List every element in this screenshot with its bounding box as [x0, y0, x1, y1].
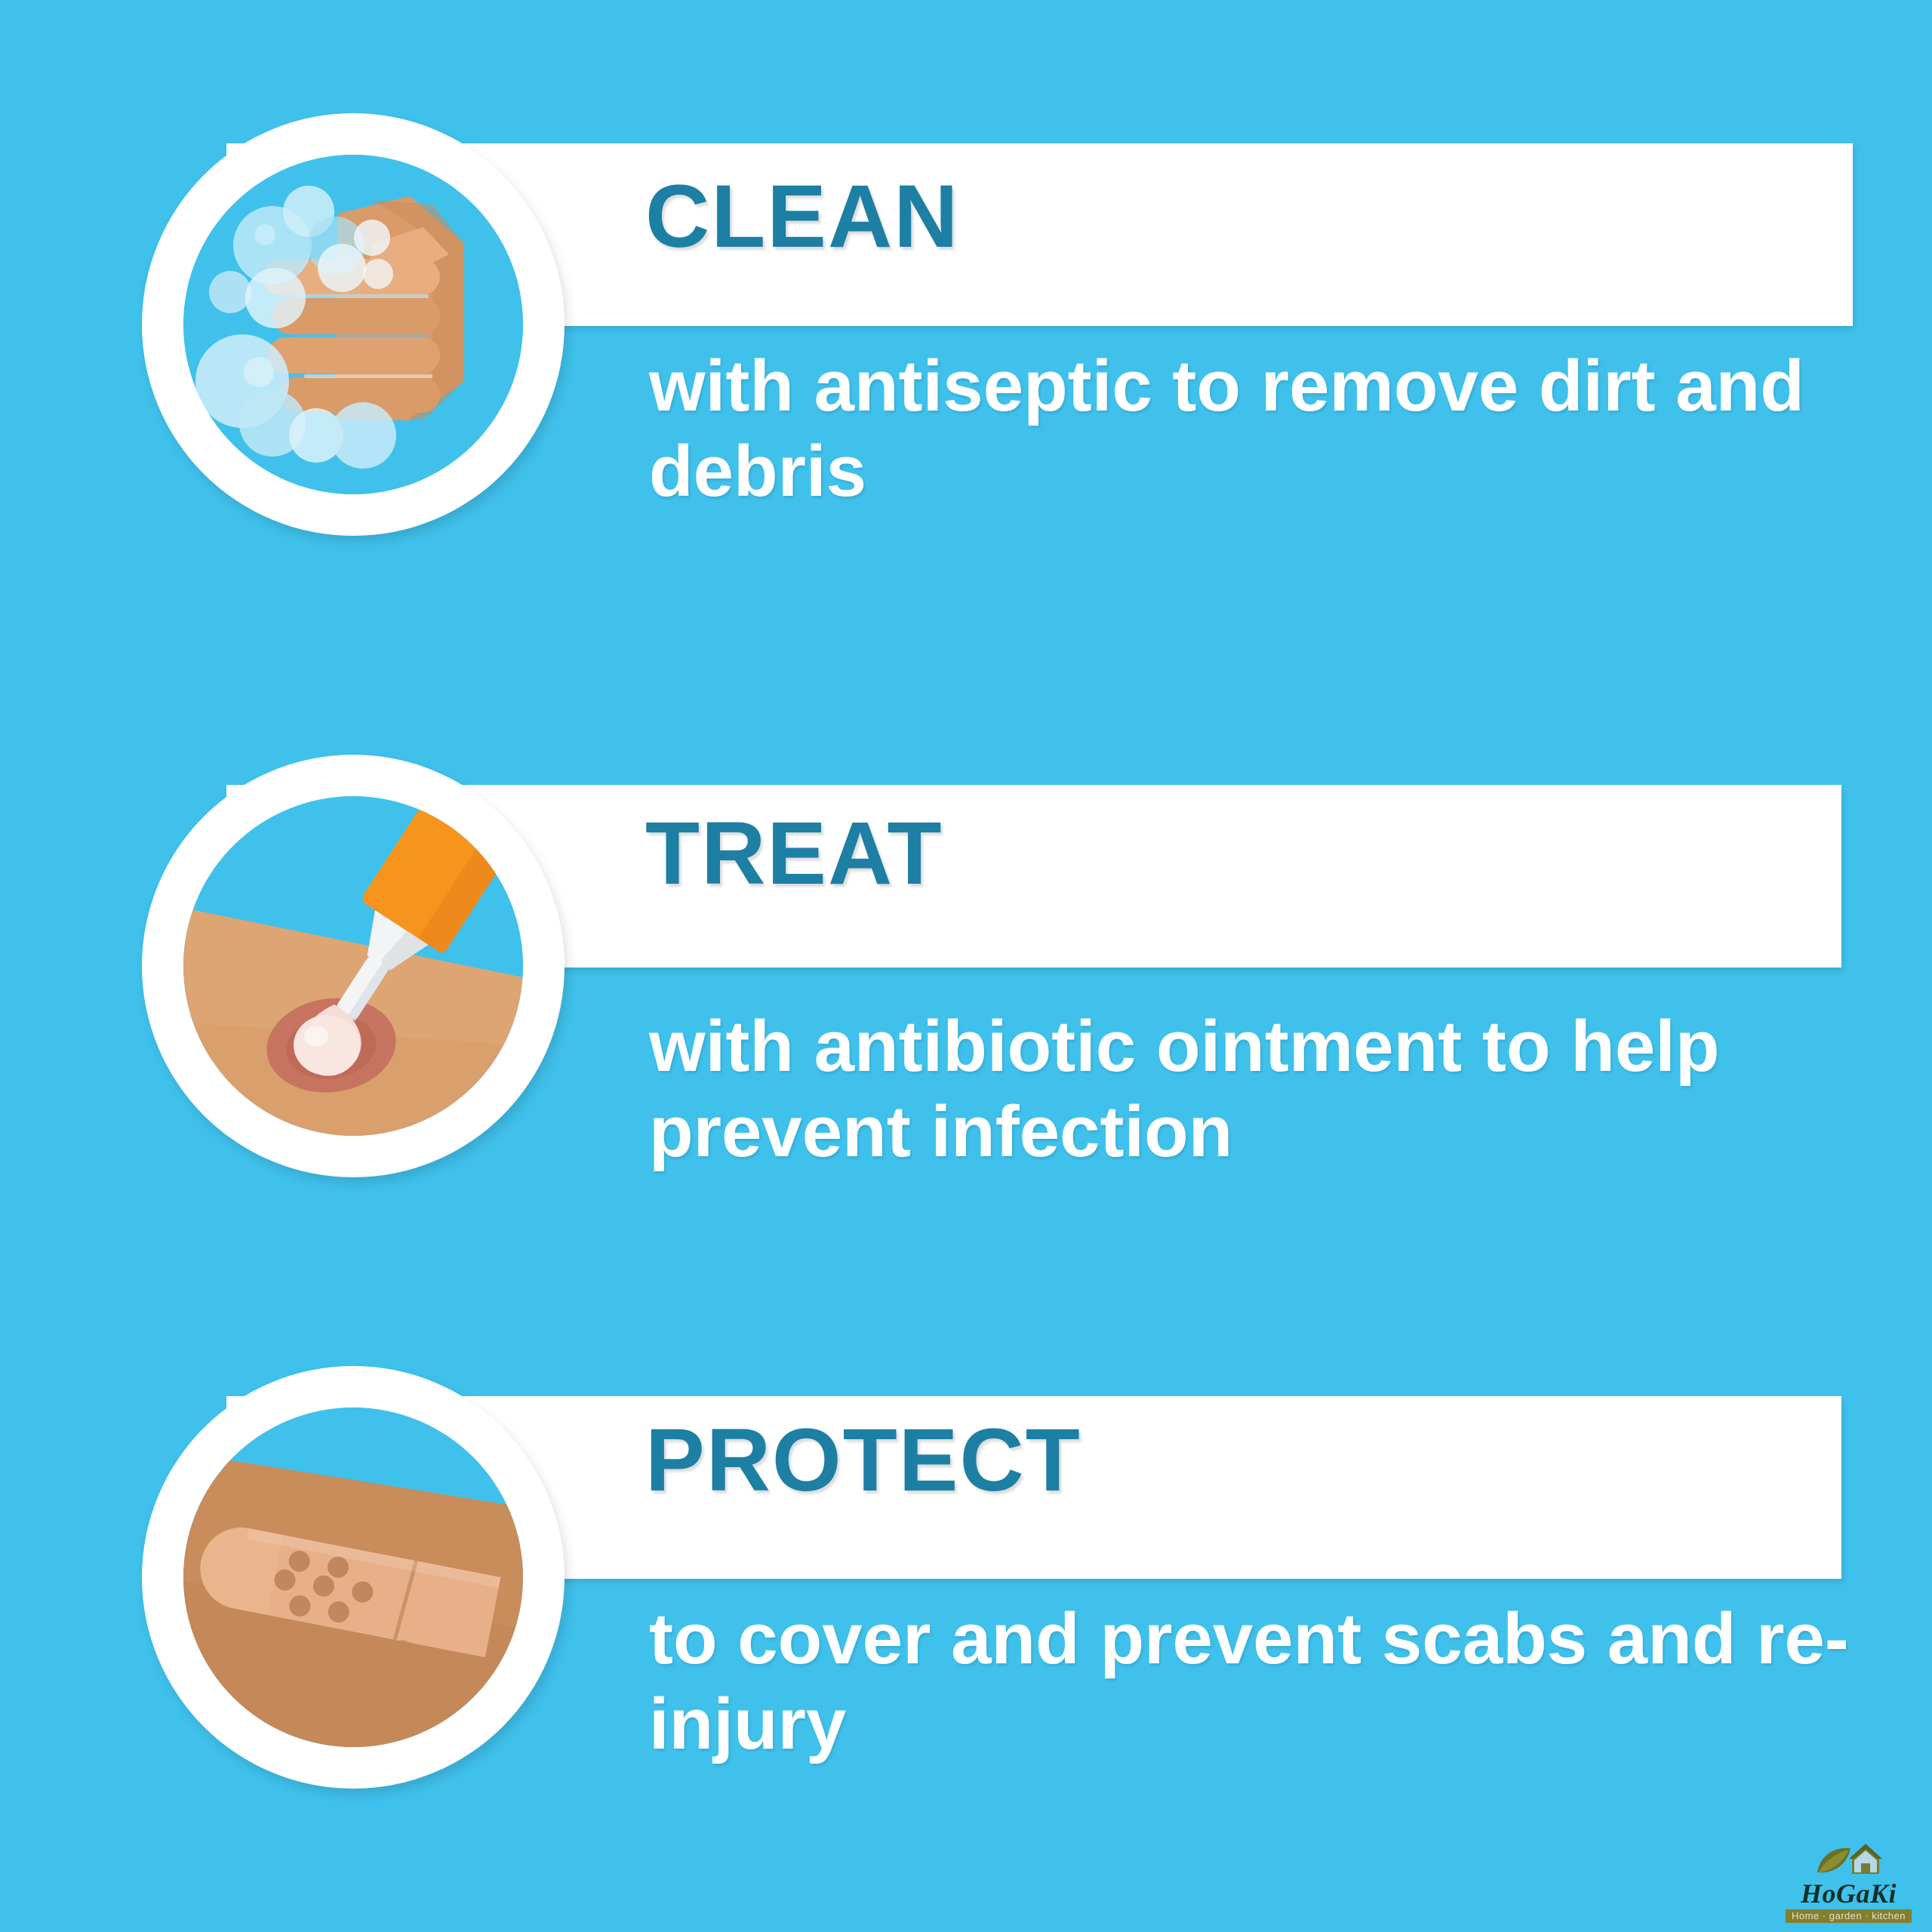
heading-clean: CLEAN [645, 172, 959, 261]
ointment-tube-icon [183, 796, 523, 1136]
infographic-poster: CLEAN with antiseptic to remove dirt and… [0, 0, 1932, 1932]
hogaki-logo-icon [1813, 1842, 1885, 1881]
watermark: HoGaKi Home · garden · kitchen [1779, 1842, 1918, 1923]
heading-protect: PROTECT [645, 1416, 1081, 1505]
heading-treat: TREAT [645, 809, 943, 898]
adhesive-bandage-icon [183, 1407, 523, 1747]
description-treat: with antibiotic ointment to help prevent… [649, 1004, 1879, 1175]
watermark-tagline: Home · garden · kitchen [1786, 1909, 1912, 1923]
hand-washing-icon [183, 155, 523, 494]
medallion-clean [142, 113, 565, 536]
watermark-name: HoGaKi [1779, 1880, 1918, 1907]
description-protect: to cover and prevent scabs and re-injury [649, 1596, 1879, 1767]
description-clean: with antiseptic to remove dirt and debri… [649, 343, 1879, 515]
medallion-protect [142, 1366, 565, 1789]
medallion-treat [142, 755, 565, 1177]
